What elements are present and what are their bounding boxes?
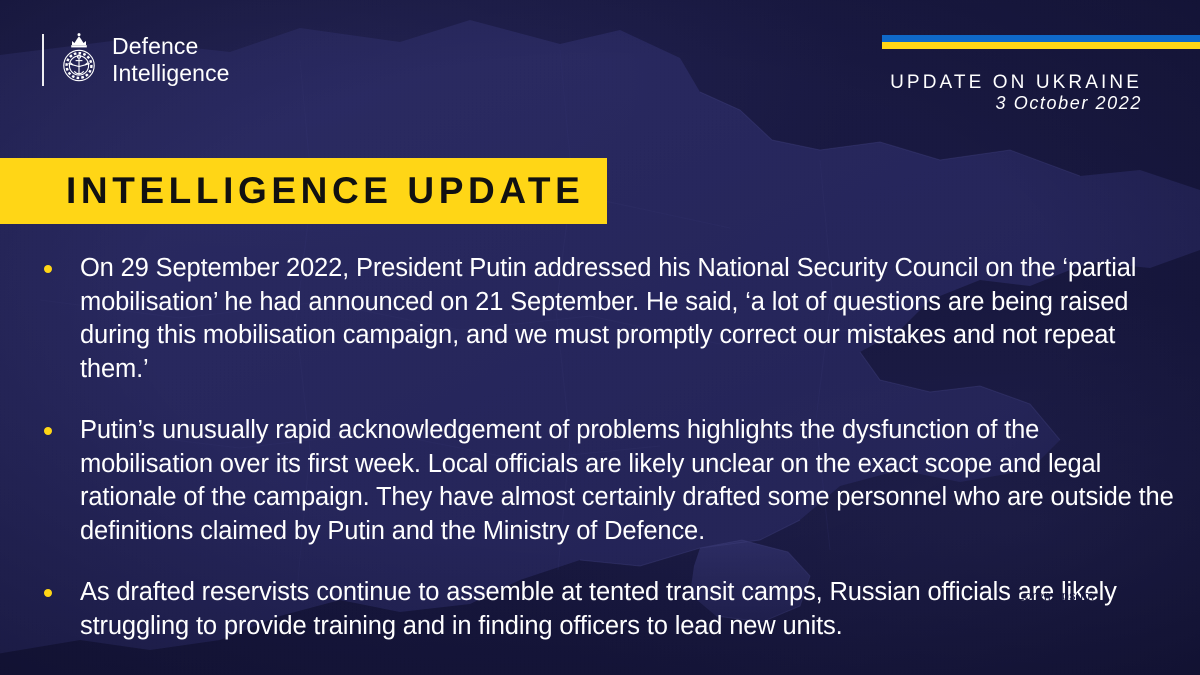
brand-divider [42,34,44,86]
bullet-list: On 29 September 2022, President Putin ad… [0,252,1200,671]
intelligence-update-slide: Defence Intelligence UPDATE ON UKRAINE 3… [0,0,1200,675]
ukraine-flag-bar [882,35,1200,49]
list-item: On 29 September 2022, President Putin ad… [0,252,1200,386]
update-date: 3 October 2022 [996,93,1142,114]
bullet-dot-icon [44,589,52,597]
banner-label: INTELLIGENCE UPDATE [66,170,584,212]
intelligence-update-banner: INTELLIGENCE UPDATE [0,158,607,224]
defence-intelligence-crest-icon [58,32,100,88]
update-title: UPDATE ON UKRAINE [890,72,1142,94]
brand-name: Defence Intelligence [112,33,230,87]
brand-lockup: Defence Intelligence [42,30,230,90]
bullet-dot-icon [44,265,52,273]
bullet-dot-icon [44,427,52,435]
lorem-ipsum-watermark: Lorem ipsum [1017,588,1094,603]
list-item: As drafted reservists continue to assemb… [0,576,1200,643]
flag-stripe-blue [882,35,1200,42]
bullet-text: As drafted reservists continue to assemb… [80,576,1178,643]
list-item: Putin’s unusually rapid acknowledgement … [0,414,1200,548]
bullet-text: On 29 September 2022, President Putin ad… [80,252,1178,386]
header: Defence Intelligence UPDATE ON UKRAINE 3… [0,0,1200,150]
flag-stripe-yellow [882,42,1200,49]
bullet-text: Putin’s unusually rapid acknowledgement … [80,414,1178,548]
